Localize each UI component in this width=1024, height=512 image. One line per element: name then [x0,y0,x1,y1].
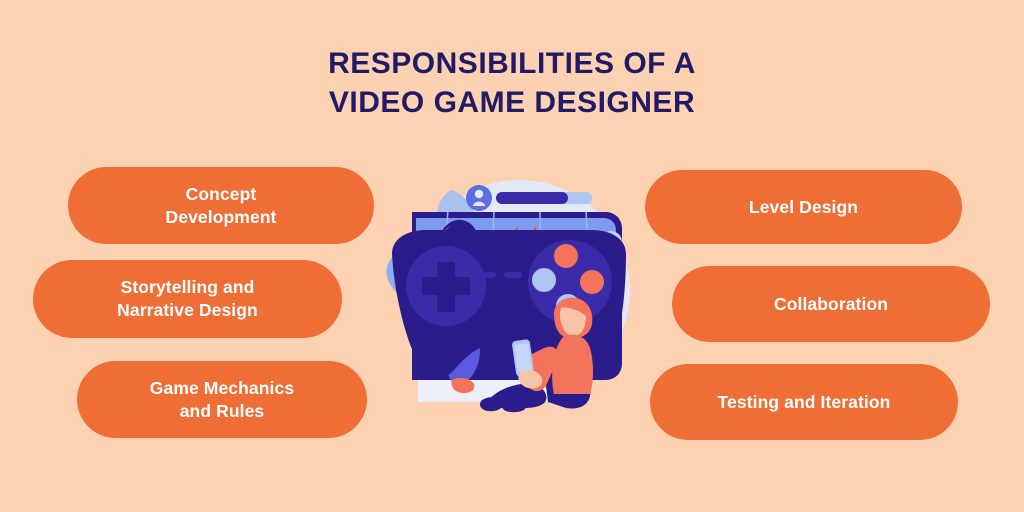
phone-person-shoe-2 [502,399,526,412]
responsibility-pill-level-design[interactable]: Level Design [645,170,962,244]
pill-label: Storytelling andNarrative Design [117,276,258,322]
responsibility-pill-collaboration[interactable]: Collaboration [672,266,990,342]
video-game-design-illustration [378,150,650,442]
pill-label: Collaboration [774,293,888,316]
pill-label: ConceptDevelopment [166,183,277,229]
title-line-1: RESPONSIBILITIES OF A [0,44,1024,83]
gamepad-button-right[interactable] [580,270,604,294]
infographic-canvas: RESPONSIBILITIES OF A VIDEO GAME DESIGNE… [0,0,1024,512]
pill-label: Level Design [749,196,858,219]
responsibility-pill-testing-iteration[interactable]: Testing and Iteration [650,364,958,440]
responsibility-pill-game-mechanics-rules[interactable]: Game Mechanicsand Rules [77,361,367,438]
responsibility-pill-concept-development[interactable]: ConceptDevelopment [68,167,374,244]
gamepad-button-left[interactable] [532,268,556,292]
pill-label: Game Mechanicsand Rules [150,377,294,423]
title-line-2: VIDEO GAME DESIGNER [0,83,1024,122]
pill-label: Testing and Iteration [718,391,891,414]
avatar-head [475,190,483,198]
gamepad-button-top[interactable] [554,244,578,268]
responsibility-pill-storytelling-narrative-design[interactable]: Storytelling andNarrative Design [33,260,342,338]
page-title: RESPONSIBILITIES OF A VIDEO GAME DESIGNE… [0,44,1024,122]
health-progress-bar-fill [496,192,568,204]
phone-person-shoe-1 [480,397,502,411]
